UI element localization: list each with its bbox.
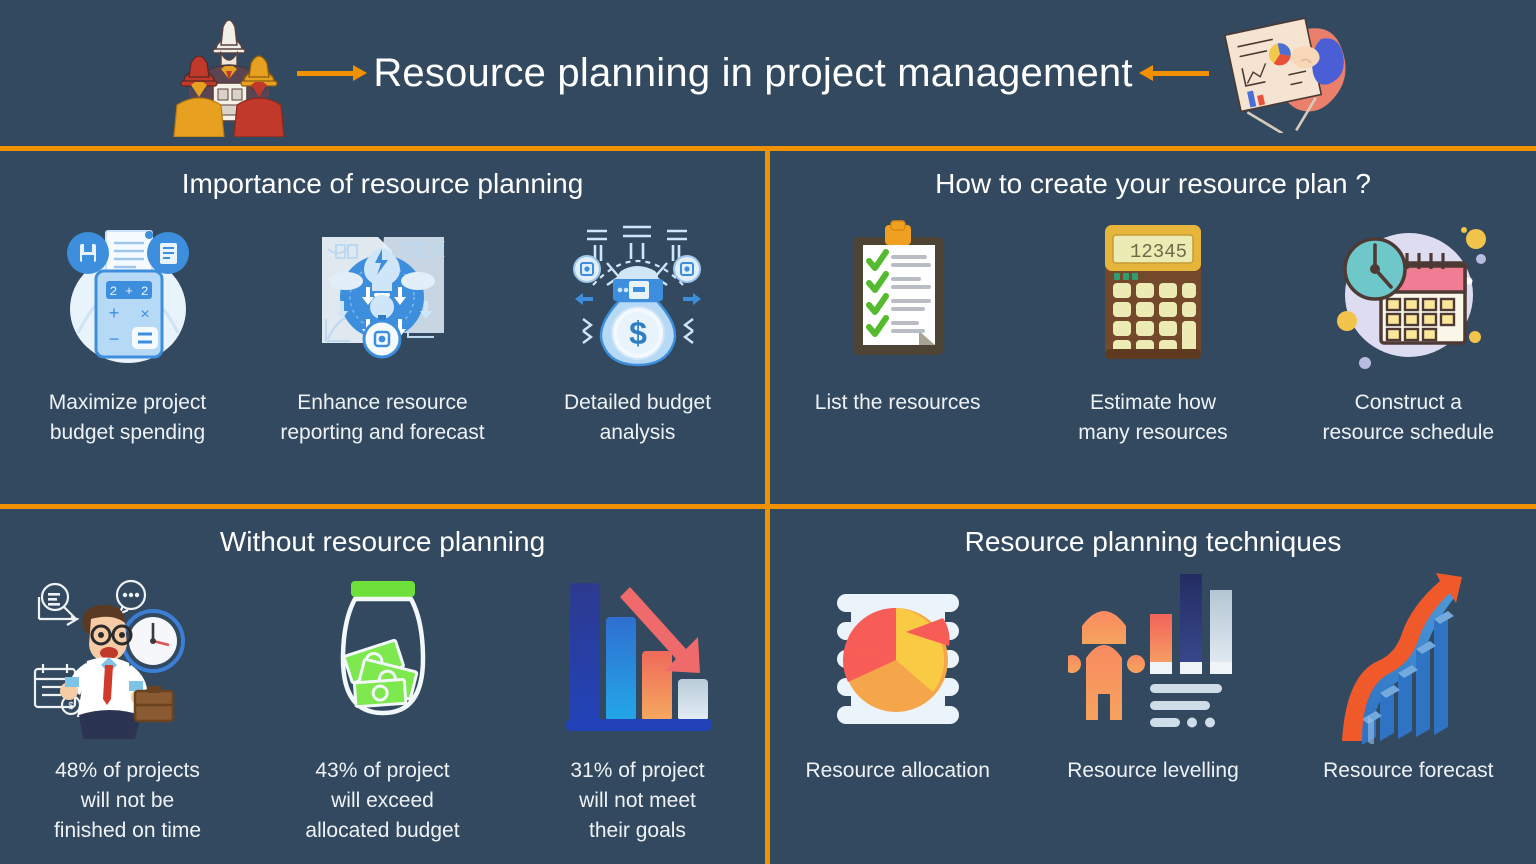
card-illustration (1068, 572, 1238, 740)
page-title: Resource planning in project management (373, 51, 1132, 96)
card-label: Resource forecast (1323, 756, 1493, 786)
card-list: List the resources 12345 (770, 214, 1536, 448)
card-illustration: 2 + 2 + × − (48, 214, 208, 374)
card-construct-a-resource-schedule[interactable]: Construct a resource schedule (1286, 214, 1531, 448)
card-illustration: $ (23, 572, 233, 740)
card-label: Construct a resource schedule (1323, 388, 1495, 448)
card-label: Estimate how many resources (1078, 388, 1227, 448)
construction-team-icon (169, 9, 289, 137)
section-importance-of-resource-planning: Importance of resource planning (0, 151, 765, 504)
card-label: Enhance resource reporting and forecast (280, 388, 484, 448)
section-how-to-create-your-resource-plan: How to create your resource plan ? (770, 151, 1536, 504)
card-illustration: $ (563, 214, 713, 374)
card-label: Maximize project budget spending (49, 388, 207, 448)
money-jar-icon (323, 573, 443, 739)
arrow-right-icon (297, 61, 373, 85)
card-illustration (323, 572, 443, 740)
card-list-the-resources[interactable]: List the resources (775, 214, 1020, 418)
section-title: Without resource planning (220, 526, 545, 558)
declining-bar-chart-icon (558, 573, 718, 739)
section-without-resource-planning: Without resource planning (0, 509, 765, 864)
svg-text:$: $ (68, 701, 74, 712)
card-list: Resource allocation (770, 572, 1536, 786)
clipboard-checklist-icon (835, 219, 960, 369)
card-label: List the resources (815, 388, 981, 418)
section-title: Importance of resource planning (182, 168, 584, 200)
card-maximize-project-budget-spending[interactable]: 2 + 2 + × − Maximize project budget spen… (5, 214, 250, 448)
card-label: 48% of projects will not be finished on … (54, 756, 201, 845)
header: Resource planning in project management (0, 0, 1536, 146)
card-resource-forecast[interactable]: Resource forecast (1286, 572, 1531, 786)
svg-text:×: × (140, 306, 149, 323)
money-bag-icon: $ (563, 215, 713, 373)
card-detailed-budget-analysis[interactable]: $ Detailed budget analysis (515, 214, 760, 448)
card-illustration (1323, 214, 1493, 374)
lightbulb-forecast-icon (298, 215, 468, 373)
calculator-display-value: 12345 (1130, 241, 1187, 263)
card-illustration (1336, 572, 1481, 740)
section-resource-planning-techniques: Resource planning techniques (770, 509, 1536, 864)
infographic-canvas: Resource planning in project management (0, 0, 1536, 864)
card-illustration (298, 214, 468, 374)
card-list: 2 + 2 + × − Maximize project budget spen… (0, 214, 765, 448)
svg-text:+: + (108, 303, 119, 323)
card-label: Resource allocation (805, 756, 989, 786)
card-resource-allocation[interactable]: Resource allocation (775, 572, 1020, 786)
section-title: Resource planning techniques (965, 526, 1342, 558)
pie-chart-icon (823, 574, 973, 739)
card-label: 31% of project will not meet their goals (570, 756, 704, 845)
card-list: $ (0, 572, 765, 845)
card-illustration (823, 572, 973, 740)
arrow-left-icon (1133, 61, 1209, 85)
svg-text:−: − (108, 329, 119, 349)
card-label: Resource levelling (1067, 756, 1239, 786)
card-projects-not-finished-on-time[interactable]: $ (5, 572, 250, 845)
card-resource-levelling[interactable]: Resource levelling (1030, 572, 1275, 786)
card-illustration: 12345 (1093, 214, 1213, 374)
card-estimate-how-many-resources[interactable]: 12345 (1030, 214, 1275, 448)
card-projects-not-meet-their-goals[interactable]: 31% of project will not meet their goals (515, 572, 760, 845)
svg-text:$: $ (629, 315, 647, 351)
card-illustration (835, 214, 960, 374)
section-title: How to create your resource plan ? (935, 168, 1371, 200)
card-label: Detailed budget analysis (564, 388, 711, 448)
flipchart-presentation-icon (1217, 13, 1367, 133)
rising-arrow-chart-icon (1336, 569, 1481, 744)
svg-text:2 + 2: 2 + 2 (109, 284, 148, 299)
calculator-receipt-icon: 2 + 2 + × − (48, 215, 208, 373)
stressed-businessman-icon: $ (23, 573, 233, 739)
card-illustration (558, 572, 718, 740)
card-projects-exceed-allocated-budget[interactable]: 43% of project will exceed allocated bud… (260, 572, 505, 845)
person-bar-chart-icon (1068, 574, 1238, 739)
card-label: 43% of project will exceed allocated bud… (305, 756, 459, 845)
card-enhance-resource-reporting-and-forecast[interactable]: Enhance resource reporting and forecast (260, 214, 505, 448)
calculator-icon: 12345 (1093, 219, 1213, 369)
clock-calendar-icon (1323, 217, 1493, 372)
